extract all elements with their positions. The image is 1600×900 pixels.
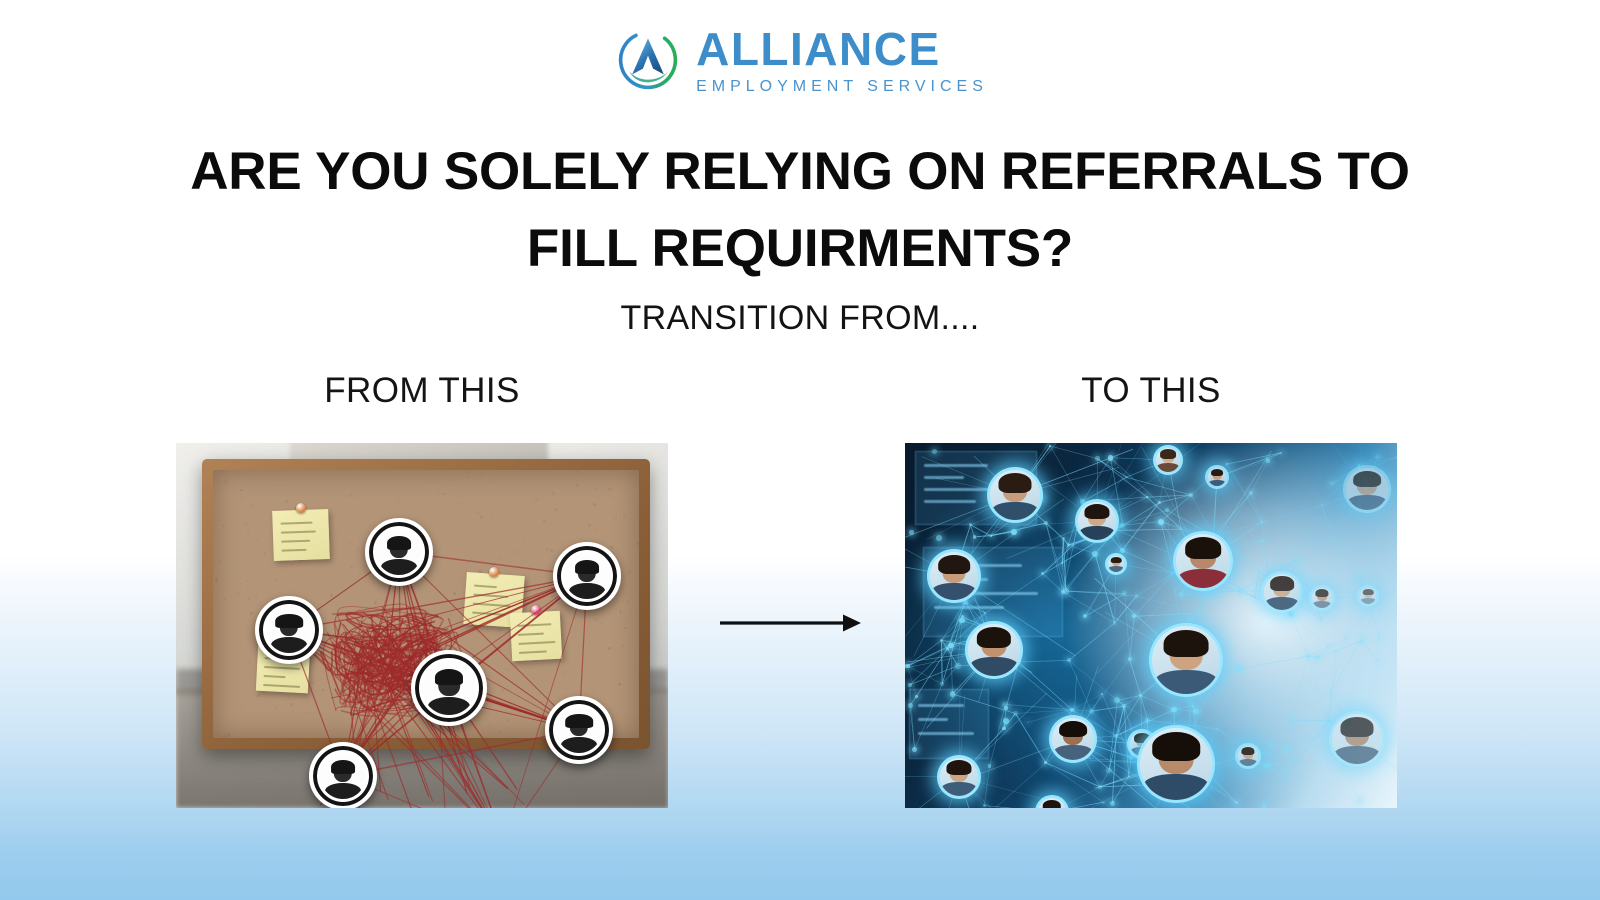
network-node	[915, 695, 918, 698]
network-node	[1226, 463, 1228, 465]
avatar-hair	[999, 473, 1032, 493]
alliance-circle-arrow-logo-icon	[612, 24, 684, 96]
network-node	[1113, 621, 1116, 624]
cork-speck	[222, 525, 224, 527]
cork-speck	[349, 493, 353, 497]
network-avatar	[1205, 465, 1229, 489]
badge-portrait	[564, 553, 610, 599]
network-node	[912, 747, 917, 752]
photo-badge	[545, 696, 613, 764]
cork-speck	[562, 631, 563, 632]
cork-speck	[357, 548, 358, 549]
cork-speck	[538, 596, 542, 600]
cork-speck	[308, 728, 310, 730]
cork-speck	[636, 542, 639, 545]
avatar-photo	[930, 552, 978, 600]
avatar-photo	[1238, 746, 1258, 766]
photo-badge	[411, 650, 487, 726]
cork-speck	[576, 484, 579, 487]
to-this-image	[905, 443, 1397, 808]
cork-speck	[239, 471, 242, 474]
cork-speck	[289, 589, 290, 590]
cork-speck	[519, 472, 521, 474]
from-this-image	[176, 443, 668, 808]
note-line	[473, 594, 508, 598]
cork-speck	[339, 689, 343, 693]
portrait-torso	[569, 583, 605, 599]
cork-speck	[492, 564, 493, 565]
cork-speck	[403, 706, 405, 708]
network-node	[1192, 705, 1194, 707]
cork-speck	[620, 683, 621, 684]
cork-speck	[576, 470, 579, 473]
network-node	[955, 663, 961, 669]
avatar-photo	[1152, 626, 1220, 694]
network-avatar	[987, 467, 1043, 523]
avatar-body	[1157, 463, 1179, 472]
network-node	[1145, 718, 1150, 723]
network-node	[948, 643, 954, 649]
portrait-hair	[275, 614, 303, 628]
note-line	[518, 633, 545, 636]
avatar-hair	[1241, 747, 1254, 755]
network-node	[1106, 768, 1112, 774]
network-node	[1158, 501, 1161, 504]
portrait-hair	[565, 714, 593, 728]
headline-line-1: ARE YOU SOLELY RELYING ON REFERRALS TO	[190, 142, 1410, 201]
network-node	[1262, 804, 1266, 808]
cork-speck	[253, 592, 254, 593]
cork-speck	[218, 563, 219, 564]
cork-speck	[588, 524, 591, 527]
avatar-body	[1155, 670, 1218, 694]
cork-speck	[219, 564, 220, 565]
network-node	[1002, 727, 1006, 731]
sticky-note	[272, 509, 330, 561]
cork-speck	[221, 470, 224, 473]
avatar-body	[932, 583, 976, 600]
network-node	[1120, 548, 1125, 553]
cork-speck	[246, 580, 248, 582]
photo-badge	[365, 518, 433, 586]
network-avatar	[965, 621, 1023, 679]
network-avatar	[1149, 623, 1223, 697]
avatar-photo	[1332, 714, 1382, 764]
portrait-torso	[271, 637, 307, 653]
network-node	[909, 530, 913, 534]
cork-speck	[330, 594, 334, 598]
network-node	[1089, 709, 1094, 714]
cork-speck	[250, 550, 252, 552]
cork-speck	[624, 627, 627, 630]
cork-speck	[426, 611, 430, 615]
avatar-photo	[1312, 588, 1332, 608]
portrait-torso	[428, 697, 470, 715]
network-node	[983, 804, 986, 807]
cork-speck	[275, 579, 276, 580]
cork-speck	[460, 502, 463, 505]
cork-speck	[349, 543, 351, 545]
network-node	[950, 691, 955, 696]
network-node	[1146, 496, 1148, 498]
cork-speck	[625, 621, 626, 622]
avatar-photo	[1176, 534, 1230, 588]
cork-speck	[247, 586, 248, 587]
cork-speck	[350, 710, 353, 713]
avatar-hair	[977, 627, 1011, 648]
cork-speck	[595, 618, 599, 622]
network-node	[1344, 637, 1348, 641]
cork-speck	[467, 475, 470, 478]
network-avatar	[1173, 531, 1233, 591]
portrait-hair	[387, 536, 411, 550]
push-pin	[489, 567, 499, 577]
avatar-hair	[1084, 504, 1109, 519]
cork-speck	[381, 684, 384, 687]
cork-speck	[218, 559, 220, 561]
cork-speck	[500, 689, 503, 692]
brand-tagline: EMPLOYMENT SERVICES	[696, 79, 988, 95]
network-node	[1102, 801, 1105, 804]
cork-speck	[449, 634, 452, 637]
cork-speck	[630, 526, 632, 528]
network-avatar	[1049, 715, 1097, 763]
cork-speck	[355, 642, 356, 643]
cork-speck	[622, 645, 624, 647]
note-line	[281, 530, 317, 533]
cork-speck	[583, 504, 584, 505]
cork-speck	[439, 617, 441, 619]
avatar-photo	[1078, 502, 1116, 540]
push-pin	[531, 605, 541, 615]
cork-speck	[545, 594, 548, 597]
network-avatar	[1329, 711, 1385, 767]
cork-speck	[609, 495, 610, 496]
avatar-hair	[946, 760, 971, 775]
cork-speck	[555, 508, 558, 511]
cork-speck	[499, 629, 500, 630]
avatar-hair	[1152, 732, 1200, 761]
cork-speck	[500, 557, 502, 559]
network-node	[1193, 709, 1199, 715]
cork-speck	[595, 488, 598, 491]
note-line	[519, 650, 547, 653]
cork-speck	[498, 731, 501, 734]
avatar-body	[1054, 745, 1093, 760]
portrait-torso	[325, 783, 361, 799]
cork-speck	[350, 573, 351, 574]
cork-speck	[215, 579, 218, 582]
network-node	[1044, 521, 1048, 525]
cork-speck	[626, 600, 629, 603]
network-avatar	[1357, 585, 1379, 607]
cork-speck	[225, 564, 227, 566]
note-line	[280, 522, 312, 525]
headline-line-2: FILL REQUIRMENTS?	[150, 210, 1450, 287]
cork-speck	[550, 603, 553, 606]
avatar-body	[1313, 601, 1331, 608]
network-node	[1375, 454, 1381, 460]
cork-speck	[593, 503, 596, 506]
network-node	[1295, 558, 1299, 562]
avatar-hair	[1160, 449, 1176, 459]
network-node	[1013, 711, 1018, 716]
cork-speck	[247, 530, 250, 533]
cork-speck	[549, 474, 551, 476]
cork-speck	[237, 592, 240, 595]
cork-speck	[533, 502, 535, 504]
network-node	[1128, 657, 1132, 661]
avatar-hair	[1211, 469, 1223, 476]
network-node	[908, 683, 912, 687]
cork-speck	[257, 694, 260, 697]
badge-portrait	[556, 707, 602, 753]
cork-speck	[345, 589, 346, 590]
avatar-body	[992, 502, 1038, 520]
avatar-body	[1143, 774, 1209, 800]
network-avatar	[1075, 499, 1119, 543]
portrait-torso	[381, 559, 417, 575]
cork-speck	[469, 735, 471, 737]
network-node	[1264, 763, 1270, 769]
cork-speck	[350, 620, 351, 621]
badge-portrait	[376, 529, 422, 575]
network-node	[1238, 588, 1244, 594]
cork-speck	[485, 641, 486, 642]
avatar-body	[1209, 480, 1226, 486]
cork-speck	[263, 552, 266, 555]
cork-speck	[362, 700, 363, 701]
cork-speck	[553, 692, 554, 693]
cork-speck	[308, 712, 310, 714]
avatar-photo	[968, 624, 1020, 676]
cork-speck	[389, 737, 392, 738]
cork-speck	[561, 609, 563, 611]
cork-speck	[614, 518, 617, 521]
network-avatar	[927, 549, 981, 603]
cork-speck	[244, 522, 247, 525]
portrait-hair	[435, 669, 463, 685]
network-node	[1395, 456, 1397, 459]
network-node	[1306, 654, 1310, 658]
avatar-photo	[990, 470, 1040, 520]
network-node	[1266, 458, 1270, 462]
cork-speck	[223, 598, 225, 600]
cork-speck	[254, 566, 256, 568]
avatar-hair	[1363, 589, 1374, 595]
cork-speck	[391, 637, 394, 640]
network-node	[940, 639, 943, 642]
network-node	[1061, 590, 1065, 594]
cork-speck	[378, 515, 379, 516]
avatar-photo	[1038, 798, 1066, 808]
network-avatar	[1137, 725, 1215, 803]
avatar-photo	[1346, 468, 1388, 510]
cork-speck	[322, 689, 323, 690]
cork-speck	[460, 578, 462, 580]
cork-speck	[521, 732, 522, 733]
cork-speck	[634, 495, 636, 497]
cork-speck	[600, 622, 603, 625]
cork-speck	[619, 610, 622, 613]
cork-speck	[394, 704, 397, 707]
note-line	[281, 549, 306, 552]
cork-speck	[507, 566, 508, 567]
cork-speck	[636, 611, 638, 613]
badge-portrait	[320, 753, 366, 799]
cork-speck	[221, 491, 222, 492]
cork-speck	[543, 520, 546, 523]
cork-speck	[295, 489, 297, 491]
right-arrow-icon	[718, 605, 863, 641]
cork-speck	[275, 707, 277, 709]
cork-speck	[256, 539, 258, 541]
brand-logo: ALLIANCE EMPLOYMENT SERVICES	[0, 24, 1600, 96]
cork-speck	[481, 473, 483, 475]
network-node	[1062, 537, 1065, 540]
cork-speck	[519, 710, 522, 713]
cork-speck	[402, 633, 404, 635]
cork-speck	[507, 669, 509, 671]
page-title: ARE YOU SOLELY RELYING ON REFERRALS TO F…	[150, 133, 1450, 288]
network-node	[1158, 519, 1164, 525]
cork-speck	[240, 489, 242, 491]
cork-speck	[610, 546, 613, 549]
network-node	[1216, 728, 1218, 730]
network-node	[1327, 645, 1330, 648]
note-line	[474, 585, 497, 589]
network-avatar	[937, 755, 981, 799]
cork-speck	[507, 719, 510, 722]
avatar-body	[1080, 526, 1115, 540]
network-avatar	[1235, 743, 1261, 769]
avatar-photo	[940, 758, 978, 796]
avatar-hair	[1111, 557, 1122, 563]
cork-speck	[218, 583, 221, 586]
cork-speck	[616, 598, 618, 600]
network-node	[1180, 528, 1182, 530]
network-node	[1270, 743, 1273, 746]
badge-portrait	[422, 661, 476, 715]
portrait-torso	[561, 737, 597, 753]
cork-speck	[552, 491, 556, 495]
cork-speck	[630, 608, 632, 610]
cork-speck	[524, 540, 526, 542]
avatar-body	[1265, 597, 1298, 610]
avatar-photo	[1360, 588, 1376, 604]
cork-speck	[426, 481, 428, 483]
subtitle: TRANSITION FROM....	[200, 299, 1400, 338]
avatar-body	[1109, 566, 1124, 572]
cork-speck	[608, 647, 611, 650]
cork-speck	[588, 501, 589, 502]
avatar-hair	[1315, 589, 1328, 597]
network-node	[1120, 523, 1125, 528]
cork-speck	[223, 735, 226, 738]
cork-speck	[425, 642, 426, 643]
cork-speck	[224, 480, 227, 483]
cork-speck	[350, 566, 353, 569]
cork-speck	[381, 735, 383, 737]
cork-speck	[356, 507, 358, 509]
network-node	[1357, 798, 1362, 803]
network-node	[905, 664, 909, 668]
avatar-body	[1239, 759, 1257, 766]
network-node	[1110, 801, 1115, 806]
cork-speck	[438, 480, 440, 482]
note-line	[281, 540, 310, 543]
avatar-body	[942, 782, 977, 796]
note-line	[517, 623, 551, 627]
network-node	[1011, 529, 1017, 535]
network-avatar	[1309, 585, 1335, 611]
network-node	[959, 618, 965, 624]
note-line	[518, 641, 555, 645]
cork-speck	[248, 597, 251, 600]
avatar-photo	[1140, 728, 1212, 800]
cork-speck	[489, 556, 490, 557]
cork-speck	[255, 596, 258, 599]
cork-speck	[478, 715, 479, 716]
network-node	[1359, 640, 1362, 643]
cork-speck	[244, 705, 245, 706]
avatar-hair	[1043, 800, 1061, 808]
cork-speck	[563, 671, 566, 674]
network-node	[988, 764, 991, 767]
note-line	[264, 675, 286, 678]
cork-speck	[215, 639, 217, 641]
cork-speck	[450, 613, 452, 615]
cork-speck	[270, 597, 271, 598]
cork-speck	[570, 540, 571, 541]
network-node	[1358, 573, 1363, 578]
avatar-body	[1348, 495, 1387, 510]
cork-speck	[418, 639, 421, 642]
cork-speck	[227, 733, 230, 736]
network-node	[1288, 611, 1294, 617]
cork-speck	[608, 488, 611, 491]
cork-speck	[535, 498, 538, 501]
cork-speck	[250, 612, 253, 615]
network-node	[1067, 543, 1070, 546]
cork-speck	[623, 515, 627, 519]
network-node	[1315, 655, 1320, 660]
cork-speck	[474, 626, 477, 629]
cork-speck	[373, 659, 376, 662]
avatar-body	[1178, 569, 1228, 588]
avatar-hair	[1164, 630, 1209, 657]
network-node	[1235, 801, 1238, 804]
cork-speck	[219, 519, 221, 521]
network-node	[1108, 455, 1114, 461]
cork-speck	[541, 701, 543, 703]
cork-speck	[630, 501, 633, 504]
cork-speck	[452, 607, 454, 609]
avatar-hair	[1059, 721, 1087, 738]
network-avatar	[1343, 465, 1391, 513]
cork-speck	[546, 548, 549, 551]
cork-speck	[336, 666, 340, 670]
brand-wordmark: ALLIANCE EMPLOYMENT SERVICES	[696, 26, 988, 95]
cork-speck	[285, 500, 288, 503]
avatar-hair	[1341, 717, 1374, 737]
cork-speck	[551, 595, 554, 598]
brand-name: ALLIANCE	[696, 26, 941, 72]
cork-speck	[513, 551, 515, 553]
avatar-hair	[1353, 471, 1381, 488]
cork-speck	[291, 704, 292, 705]
network-avatar	[1105, 553, 1127, 575]
